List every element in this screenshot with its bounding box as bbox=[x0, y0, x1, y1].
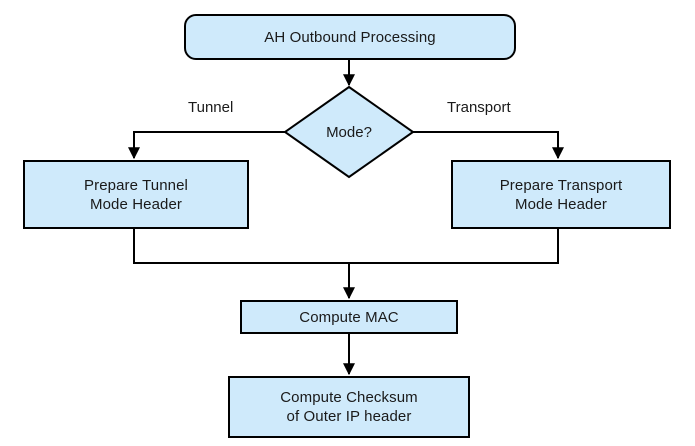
connector-mode-to-transport bbox=[413, 132, 558, 158]
node-label: Mode? bbox=[285, 87, 413, 177]
node-label: Compute Checksum of Outer IP header bbox=[274, 388, 424, 426]
node-prepare-tunnel-mode-header[interactable]: Prepare Tunnel Mode Header bbox=[23, 160, 249, 229]
node-compute-checksum-outer-ip-header[interactable]: Compute Checksum of Outer IP header bbox=[228, 376, 470, 438]
node-label: Prepare Tunnel Mode Header bbox=[78, 176, 194, 214]
node-compute-mac[interactable]: Compute MAC bbox=[240, 300, 458, 334]
connector-transport-to-merge bbox=[349, 229, 558, 263]
node-label: Prepare Transport Mode Header bbox=[494, 176, 629, 214]
node-label: Compute MAC bbox=[293, 308, 404, 327]
connector-mode-to-tunnel bbox=[134, 132, 285, 158]
edge-label-transport: Transport bbox=[447, 99, 511, 116]
flowchart-canvas: AH Outbound Processing Mode? Tunnel Tran… bbox=[0, 0, 695, 446]
node-mode-decision[interactable]: Mode? bbox=[285, 87, 413, 177]
node-label: AH Outbound Processing bbox=[258, 28, 441, 47]
node-ah-outbound-processing[interactable]: AH Outbound Processing bbox=[184, 14, 516, 60]
node-prepare-transport-mode-header[interactable]: Prepare Transport Mode Header bbox=[451, 160, 671, 229]
edge-label-tunnel: Tunnel bbox=[188, 99, 233, 116]
connector-tunnel-to-merge bbox=[134, 229, 349, 263]
